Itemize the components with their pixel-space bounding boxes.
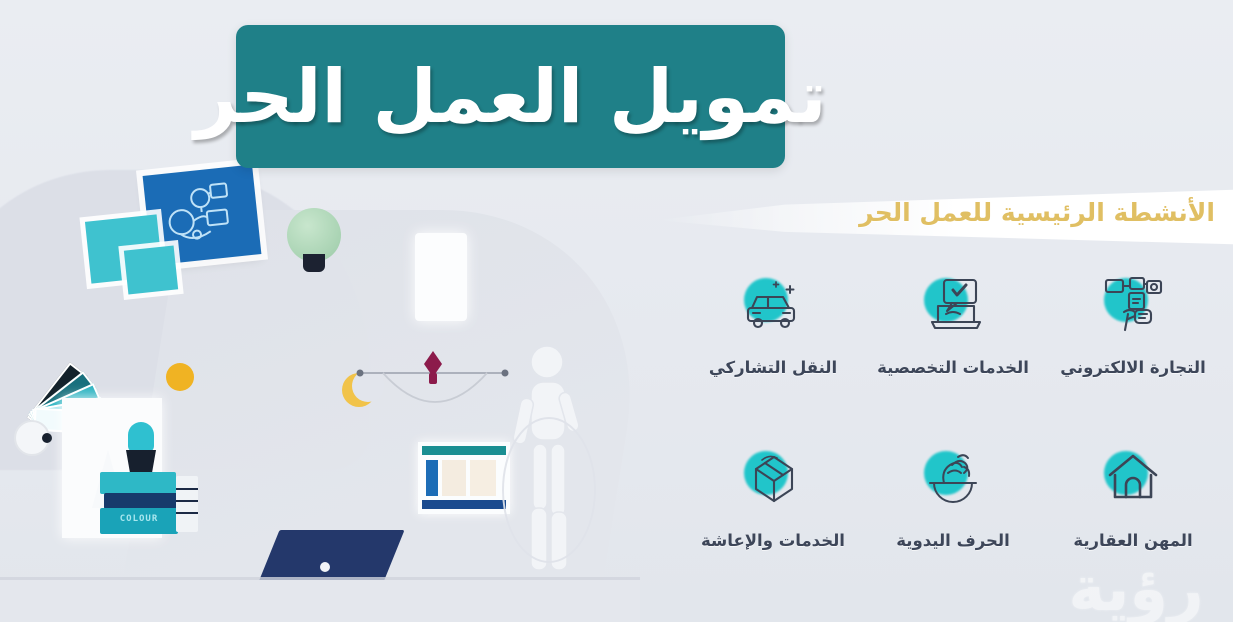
house-icon — [1090, 441, 1176, 515]
activity-label: الخدمات التخصصية — [877, 358, 1029, 377]
package-box-icon — [730, 441, 816, 515]
infographic-canvas: COLOUR — [0, 0, 1233, 622]
activities-grid: التجارة الالكتروني الخدمات التخصصية — [683, 262, 1223, 607]
car-icon — [730, 268, 816, 342]
ecommerce-screens-icon — [1090, 268, 1176, 342]
activity-item-services-catering[interactable]: الخدمات والإعاشة — [683, 435, 863, 608]
lightbulb-base — [303, 254, 325, 272]
creative-workspace-illustration: COLOUR — [0, 150, 640, 622]
browser-sidebar — [426, 460, 438, 496]
activity-item-real-estate[interactable]: المهن العقارية — [1043, 435, 1223, 608]
mannequin-figure — [487, 340, 597, 595]
white-paper-sheet — [415, 233, 467, 321]
swatch-pivot-dot — [42, 433, 52, 443]
activity-label: الحرف اليدوية — [896, 531, 1010, 550]
activity-label: النقل التشاركي — [709, 358, 837, 377]
floor-line — [0, 577, 640, 580]
activity-label: الخدمات والإعاشة — [701, 531, 845, 550]
activity-item-ecommerce[interactable]: التجارة الالكتروني — [1043, 262, 1223, 435]
book-colour-label: COLOUR — [108, 514, 170, 524]
activity-item-shared-transport[interactable]: النقل التشاركي — [683, 262, 863, 435]
laptop-logo-dot — [320, 562, 330, 572]
activity-label: المهن العقارية — [1073, 531, 1192, 550]
browser-column-one — [442, 460, 466, 496]
main-title-banner: تمويل العمل الحر — [236, 25, 785, 168]
teal-square-shape-small — [124, 246, 178, 295]
cactus-pot — [126, 450, 156, 474]
subtitle-banner: الأنشطة الرئيسية للعمل الحر — [658, 186, 1233, 248]
floor-band — [0, 580, 640, 622]
page-title: تمويل العمل الحر — [194, 54, 826, 140]
handicraft-bowl-icon — [910, 441, 996, 515]
activity-label: التجارة الالكتروني — [1060, 358, 1206, 377]
orange-dot — [166, 363, 194, 391]
book-top — [100, 472, 176, 494]
activity-item-handicrafts[interactable]: الحرف اليدوية — [863, 435, 1043, 608]
cactus-plant — [128, 422, 154, 452]
book-middle — [104, 493, 178, 509]
activity-item-specialized-services[interactable]: الخدمات التخصصية — [863, 262, 1043, 435]
laptop-checkmark-icon — [910, 268, 996, 342]
book-pages-side — [176, 476, 198, 532]
subtitle-text: الأنشطة الرئيسية للعمل الحر — [695, 198, 1215, 227]
